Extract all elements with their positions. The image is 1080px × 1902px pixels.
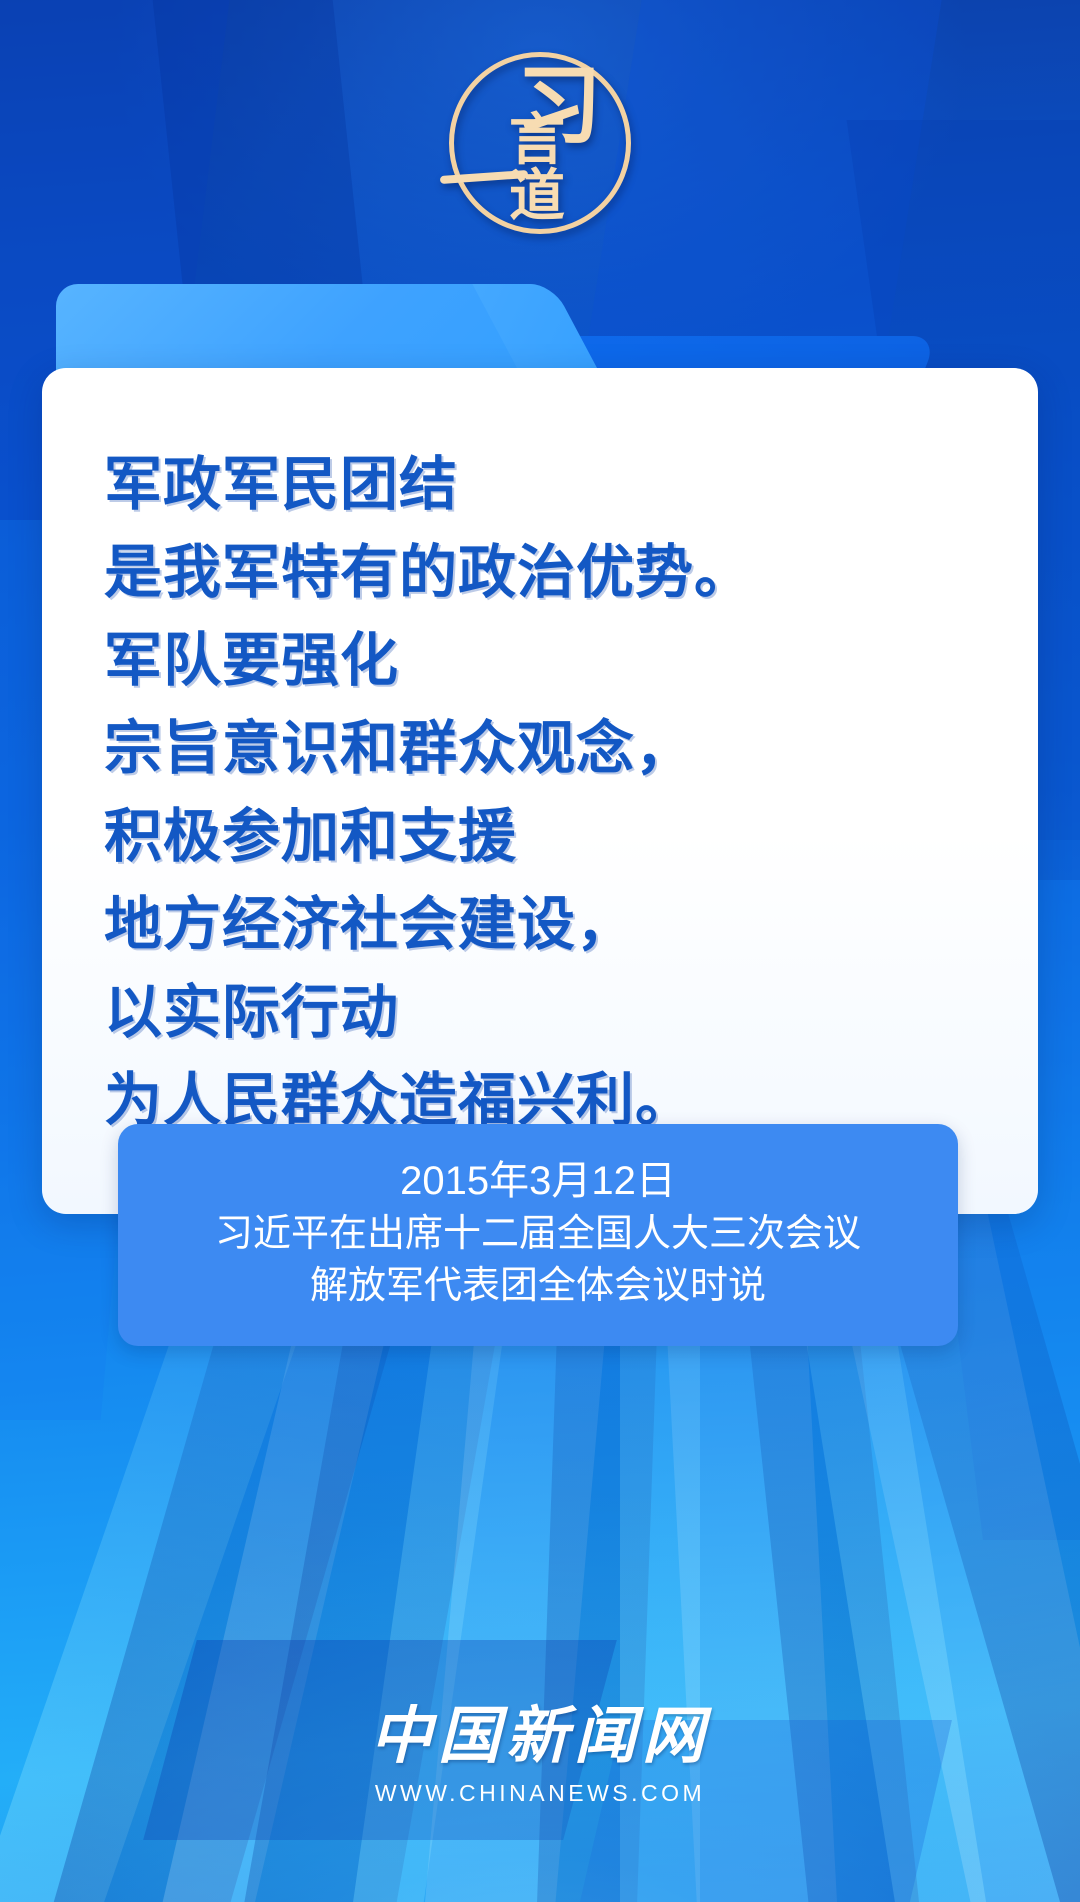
chinanews-url: WWW.CHINANEWS.COM xyxy=(0,1780,1080,1807)
quote-source-line-1: 习近平在出席十二届全国人大三次会议 xyxy=(148,1208,928,1260)
chinanews-logo: 中国新闻网 xyxy=(0,1700,1080,1772)
quote-line: 地方经济社会建设， xyxy=(104,880,1038,968)
quote-line: 军队要强化 xyxy=(104,616,1038,704)
brand-seal-container: 习 言道 xyxy=(0,52,1080,234)
quote-line: 是我军特有的政治优势。 xyxy=(104,528,1038,616)
quote-text-block: 军政军民团结 是我军特有的政治优势。 军队要强化 宗旨意识和群众观念， 积极参加… xyxy=(104,440,1038,1144)
quote-line: 以实际行动 xyxy=(104,968,1038,1056)
quote-card-shell: 军政军民团结 是我军特有的政治优势。 军队要强化 宗旨意识和群众观念， 积极参加… xyxy=(42,284,1038,1214)
attribution-caption-box: 2015年3月12日 习近平在出席十二届全国人大三次会议 解放军代表团全体会议时… xyxy=(118,1124,958,1346)
background-bottom-glow xyxy=(0,1482,1080,1902)
site-footer: 中国新闻网 WWW.CHINANEWS.COM xyxy=(0,1700,1080,1807)
quote-line: 军政军民团结 xyxy=(104,440,1038,528)
quote-line: 积极参加和支援 xyxy=(104,792,1038,880)
quote-source-line-2: 解放军代表团全体会议时说 xyxy=(148,1260,928,1312)
quote-card: 军政军民团结 是我军特有的政治优势。 军队要强化 宗旨意识和群众观念， 积极参加… xyxy=(42,368,1038,1214)
quote-date: 2015年3月12日 xyxy=(148,1154,928,1208)
quote-line: 宗旨意识和群众观念， xyxy=(104,704,1038,792)
xi-yan-dao-seal-icon: 习 言道 xyxy=(449,52,631,234)
seal-bottom-characters: 言道 xyxy=(509,113,595,225)
